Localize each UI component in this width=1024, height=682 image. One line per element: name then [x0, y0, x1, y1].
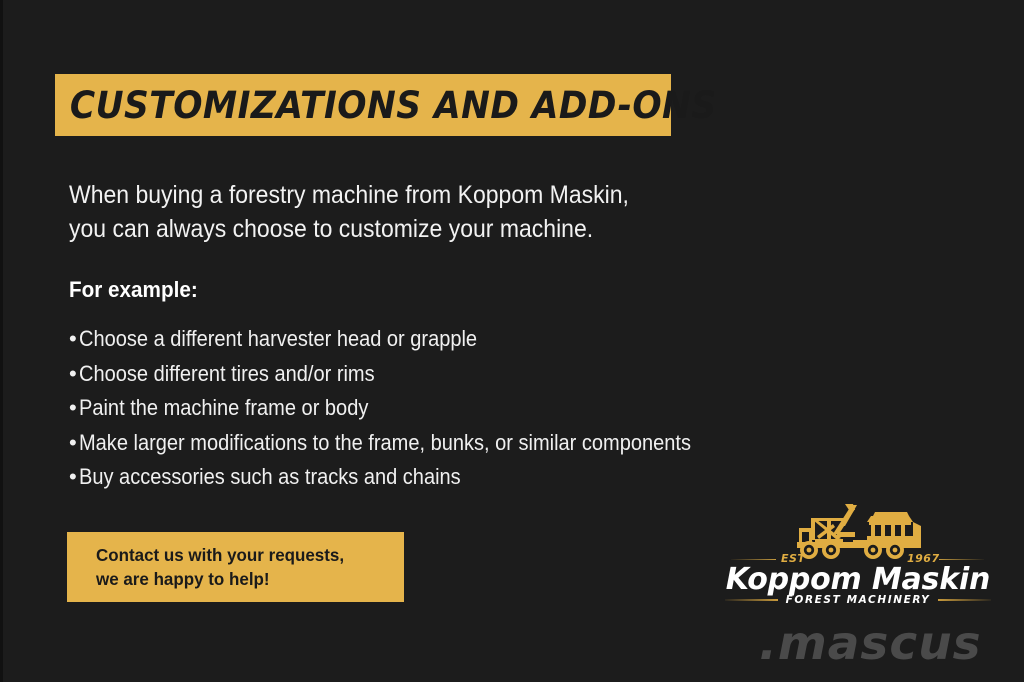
est-rule-left: [731, 559, 776, 560]
bullet-marker: •: [69, 322, 79, 357]
list-item: •Choose different tires and/or rims: [69, 357, 869, 392]
intro-line-1: When buying a forestry machine from Kopp…: [69, 178, 731, 212]
logo-wordmark: Koppom Maskin: [725, 562, 991, 597]
tagline-rule-right: [938, 599, 991, 601]
koppom-maskin-logo: EST 1967 Koppom Maskin FOREST MACHINERY: [725, 502, 991, 610]
page-title: CUSTOMIZATIONS AND ADD-ONS: [55, 84, 717, 127]
list-item: •Make larger modifications to the frame,…: [69, 426, 869, 461]
for-example-label: For example:: [69, 277, 198, 303]
list-item: •Choose a different harvester head or gr…: [69, 322, 869, 357]
slide-canvas: CUSTOMIZATIONS AND ADD-ONS When buying a…: [0, 0, 1024, 682]
list-item-label: Paint the machine frame or body: [79, 391, 368, 426]
title-banner: CUSTOMIZATIONS AND ADD-ONS: [55, 74, 671, 136]
bullet-marker: •: [69, 357, 79, 392]
list-item: •Paint the machine frame or body: [69, 391, 869, 426]
mascus-watermark: .mascus: [759, 616, 982, 670]
logo-tagline: FOREST MACHINERY: [786, 594, 931, 606]
bullet-marker: •: [69, 426, 79, 461]
list-item-label: Choose different tires and/or rims: [79, 357, 375, 392]
logo-tagline-row: FOREST MACHINERY: [725, 594, 991, 606]
intro-line-2: you can always choose to customize your …: [69, 212, 731, 246]
contact-cta-box[interactable]: Contact us with your requests, we are ha…: [67, 532, 404, 602]
tagline-rule-left: [725, 599, 778, 601]
list-item-label: Choose a different harvester head or gra…: [79, 322, 477, 357]
cta-line-2: we are happy to help!: [96, 567, 395, 591]
est-rule-right: [939, 559, 984, 560]
cta-line-1: Contact us with your requests,: [96, 543, 395, 567]
intro-paragraph: When buying a forestry machine from Kopp…: [69, 178, 789, 246]
customization-options-list: •Choose a different harvester head or gr…: [69, 322, 869, 495]
list-item-label: Make larger modifications to the frame, …: [79, 426, 691, 461]
bullet-marker: •: [69, 391, 79, 426]
bullet-marker: •: [69, 460, 79, 495]
list-item-label: Buy accessories such as tracks and chain…: [79, 460, 461, 495]
list-item: •Buy accessories such as tracks and chai…: [69, 460, 869, 495]
